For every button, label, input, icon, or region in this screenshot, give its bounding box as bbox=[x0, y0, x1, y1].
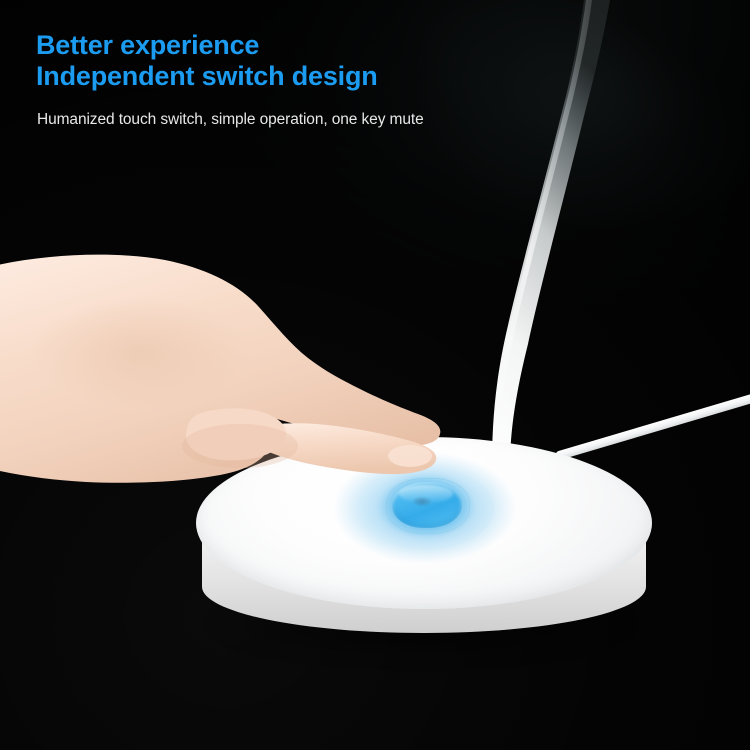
banner-subheadline: Humanized touch switch, simple operation… bbox=[37, 111, 424, 129]
pointing-hand bbox=[0, 232, 460, 522]
finger-crease-shadow bbox=[182, 424, 298, 468]
product-banner-image: Better experience Independent switch des… bbox=[0, 0, 750, 750]
headline-line-1: Better experience bbox=[36, 30, 259, 60]
banner-headline: Better experience Independent switch des… bbox=[36, 30, 378, 92]
headline-line-2: Independent switch design bbox=[36, 61, 378, 92]
hand-shading bbox=[30, 296, 250, 408]
fingertip-highlight bbox=[388, 445, 432, 467]
